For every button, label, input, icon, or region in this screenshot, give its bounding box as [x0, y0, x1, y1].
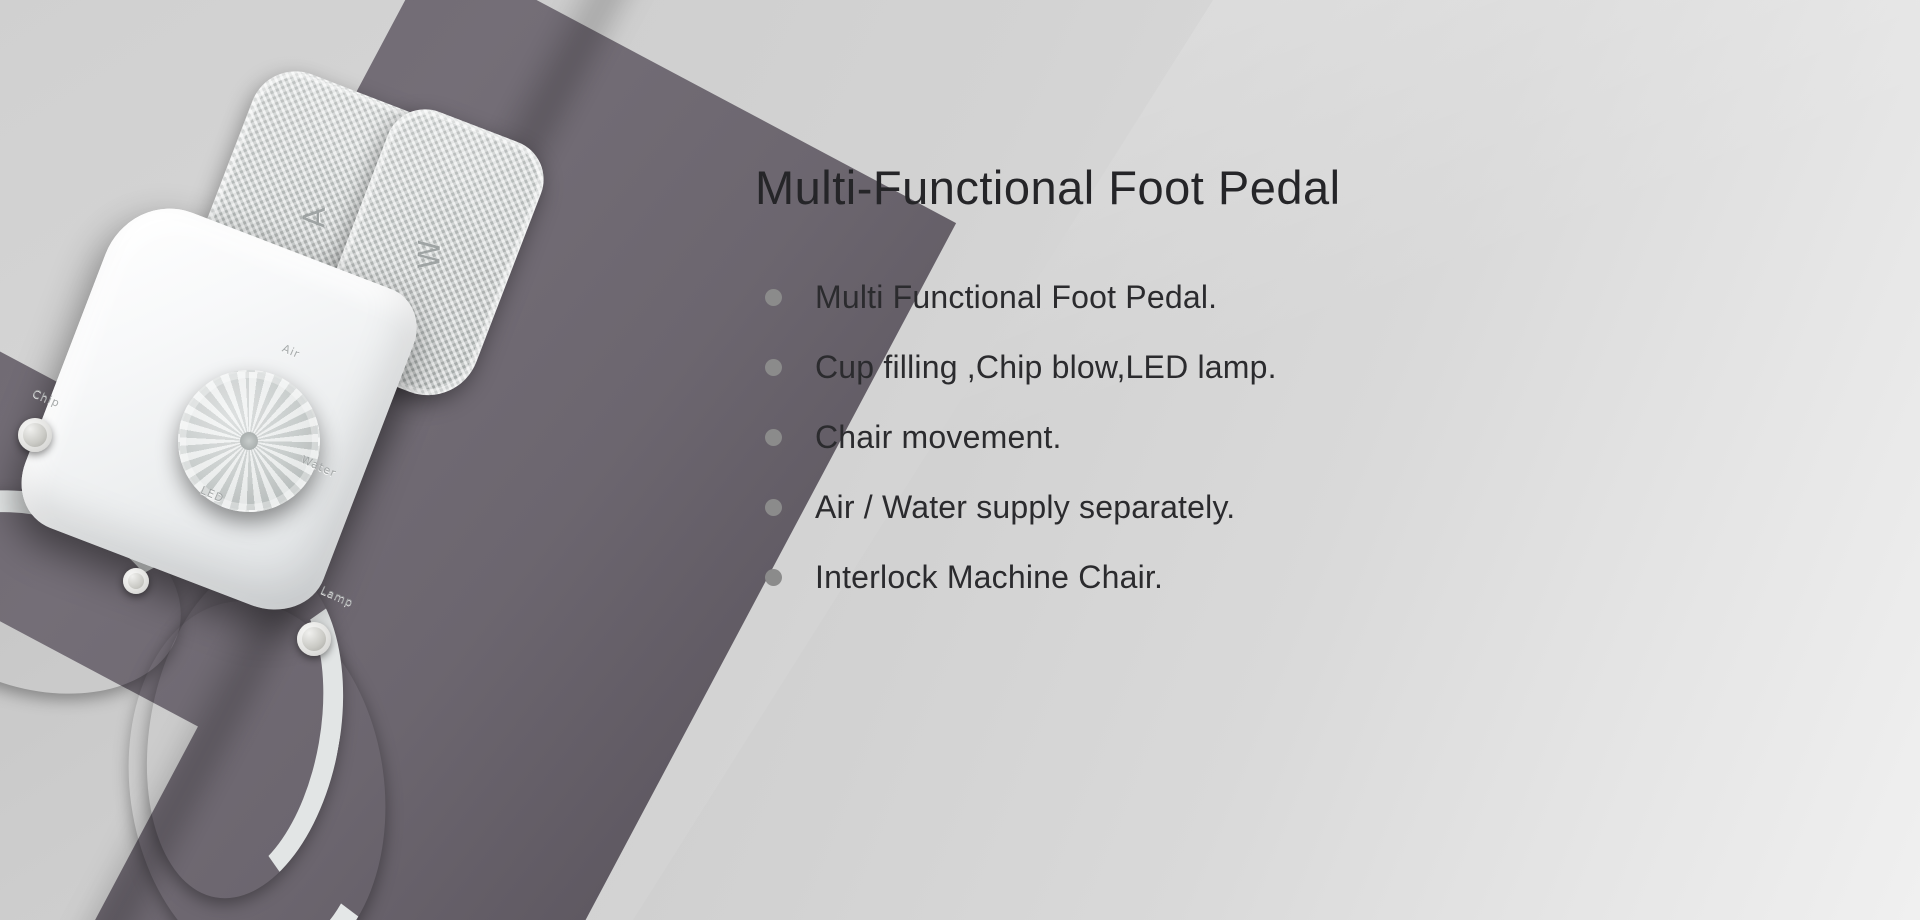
bullet-dot-icon: [765, 569, 782, 586]
mounting-screw-center: [123, 568, 149, 594]
list-item: Cup filling ,Chip blow,LED lamp.: [752, 332, 1802, 402]
bullet-dot-icon: [765, 289, 782, 306]
list-item-label: Multi Functional Foot Pedal.: [815, 279, 1217, 316]
list-item-label: Air / Water supply separately.: [815, 489, 1235, 526]
page-title: Multi-Functional Foot Pedal: [755, 160, 1341, 215]
mounting-screw-bottom: [297, 622, 331, 656]
mounting-screw-left: [18, 418, 52, 452]
list-item-label: Chair movement.: [815, 419, 1062, 456]
banner-stage: A W Chip Air Water LED Lamp Multi-Functi…: [0, 0, 1920, 920]
list-item: Interlock Machine Chair.: [752, 542, 1802, 612]
bullet-dot-icon: [765, 359, 782, 376]
bullet-dot-icon: [765, 429, 782, 446]
list-item: Air / Water supply separately.: [752, 472, 1802, 542]
list-item-label: Cup filling ,Chip blow,LED lamp.: [815, 349, 1277, 386]
list-item: Chair movement.: [752, 402, 1802, 472]
list-item-label: Interlock Machine Chair.: [815, 559, 1163, 596]
bullet-dot-icon: [765, 499, 782, 516]
list-item: Multi Functional Foot Pedal.: [752, 262, 1802, 332]
product-photo: A W Chip Air Water LED Lamp: [0, 40, 560, 920]
text-column: Multi-Functional Foot Pedal Multi Functi…: [752, 0, 1852, 920]
feature-list: Multi Functional Foot Pedal. Cup filling…: [752, 262, 1802, 612]
pedal-pad-water-label: W: [411, 173, 449, 334]
